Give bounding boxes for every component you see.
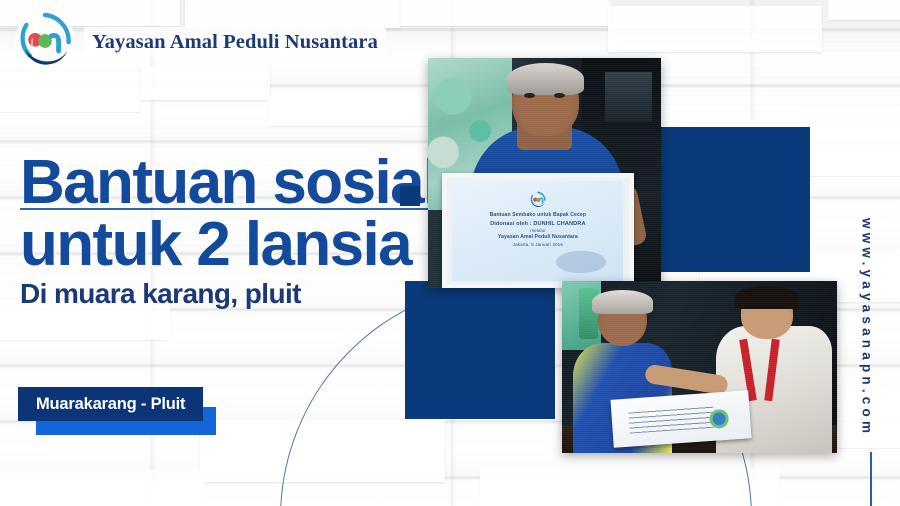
- bg-plank: [0, 470, 205, 506]
- certificate-apn-logo: [528, 190, 548, 210]
- certificate-line-2: Didonasi oleh : DUNHIL CHANDRA: [490, 220, 586, 228]
- bg-plank: [0, 72, 140, 112]
- bg-plank: [400, 0, 610, 26]
- website-url[interactable]: www.yayasanapn.com: [855, 218, 879, 438]
- certificate-signature: [552, 249, 610, 275]
- certificate-line-3: melalui: [530, 228, 545, 235]
- headline-line-2: untuk 2 lansia: [20, 214, 411, 276]
- headline-line-1: Bantuan sosial: [20, 152, 439, 214]
- bg-plank: [185, 0, 400, 28]
- certificate-line-1: Bantuan Sembako untuk Bapak Cecep: [490, 212, 586, 219]
- photo-1-man-eye: [524, 93, 536, 99]
- navy-square-center: [405, 281, 555, 419]
- photo-1-window: [605, 72, 652, 123]
- photo-1-scene: Bantuan Sembako untuk Bapak Cecep Didona…: [428, 58, 661, 288]
- navy-square-small: [400, 186, 420, 206]
- photo-1-certificate-frame: Bantuan Sembako untuk Bapak Cecep Didona…: [442, 173, 634, 288]
- photo-2-volunteer-hair: [735, 286, 798, 308]
- organization-name-band: Yayasan Amal Peduli Nusantara: [84, 27, 386, 57]
- photo-2-elderly-man-hair: [592, 290, 653, 314]
- headline-subtitle: Di muara karang, pluit: [20, 278, 301, 310]
- photo-elderly-man-holding-certificate: Bantuan Sembako untuk Bapak Cecep Didona…: [428, 58, 661, 288]
- certificate-line-5: Jakarta, 5 Januari 2016: [513, 242, 563, 249]
- location-badge-label: Muarakarang - Pluit: [36, 395, 185, 414]
- photo-2-document-text: [627, 405, 714, 433]
- organization-name: Yayasan Amal Peduli Nusantara: [92, 31, 378, 54]
- navy-square-right: [650, 127, 810, 272]
- certificate-line-4: Yayasan Amal Peduli Nusantara: [498, 234, 578, 241]
- photo-2-document: [610, 390, 751, 448]
- right-vertical-rule: [870, 452, 872, 506]
- bg-plank: [140, 66, 270, 100]
- apn-logo: [14, 10, 76, 72]
- poster-canvas: Yayasan Amal Peduli Nusantara Bantuan so…: [0, 0, 900, 506]
- photo-2-document-logo: [707, 407, 730, 429]
- website-url-text: www.yayasanapn.com: [860, 218, 875, 437]
- certificate: Bantuan Sembako untuk Bapak Cecep Didona…: [452, 181, 623, 280]
- photo-signing-document: [562, 281, 837, 453]
- photo-2-scene: [562, 281, 837, 453]
- bg-plank: [828, 0, 900, 20]
- photo-1-man-hair: [507, 63, 584, 95]
- location-badge: Muarakarang - Pluit: [18, 387, 203, 421]
